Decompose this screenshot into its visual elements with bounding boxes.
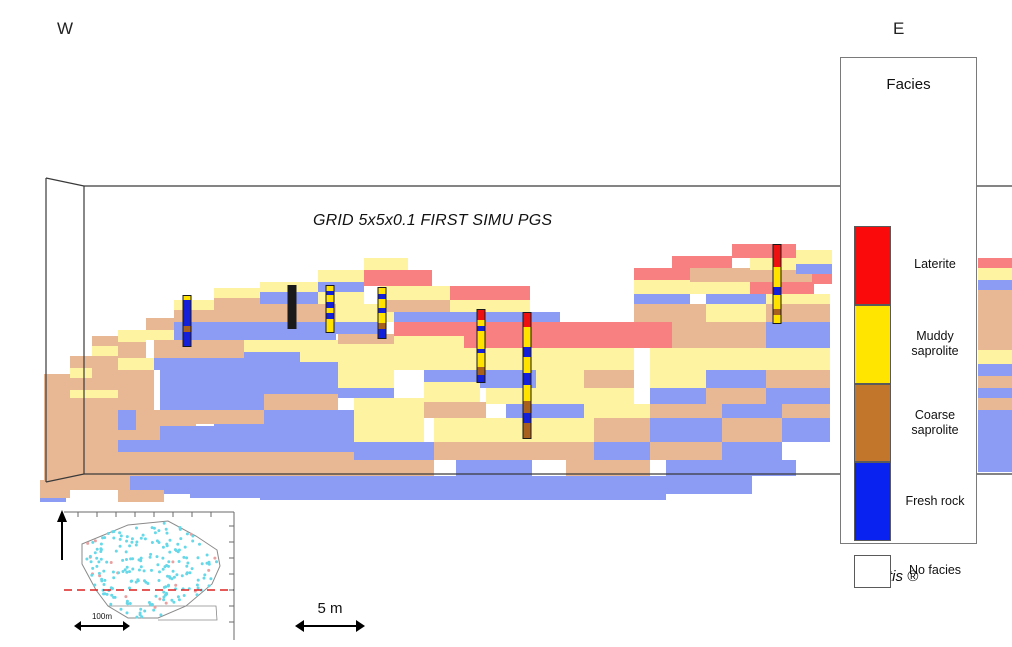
sample-point (125, 540, 128, 543)
facies-block-laterite (634, 268, 690, 280)
sample-point (111, 530, 114, 533)
facies-block-fresh (766, 322, 830, 348)
sample-point (152, 609, 155, 612)
drillhole-band-coarse (524, 423, 531, 438)
facies-block-muddy (354, 398, 424, 442)
drillhole-band-fresh (774, 287, 781, 295)
sample-point (144, 537, 147, 540)
facies-block-muddy (978, 350, 1012, 364)
facies-block-coarse (978, 376, 1012, 388)
sample-point (85, 558, 88, 561)
sample-point (96, 548, 99, 551)
sample-point (126, 600, 129, 603)
sample-point (175, 573, 178, 576)
sample-point (184, 546, 187, 549)
facies-block-coarse (44, 388, 70, 468)
sample-point (121, 559, 124, 562)
sample-point (191, 567, 194, 570)
sample-point (94, 539, 97, 542)
facies-block-coarse (260, 304, 336, 322)
drillhole-band-fresh (524, 347, 531, 357)
north-arrow-icon (57, 510, 67, 560)
facies-block-fresh (154, 358, 214, 370)
facies-block-muddy (796, 250, 832, 264)
drillhole-band-fresh (379, 294, 386, 299)
sample-point (135, 527, 138, 530)
facies-block-laterite (750, 282, 814, 294)
facies-block-coarse (672, 322, 766, 348)
sample-point (162, 596, 165, 599)
sample-point (102, 570, 105, 573)
sample-point (172, 570, 175, 573)
sample-point (102, 592, 105, 595)
sample-point (198, 543, 201, 546)
sample-point (162, 591, 165, 594)
sample-point (128, 587, 131, 590)
facies-block-coarse (506, 442, 594, 460)
sample-point (143, 610, 146, 613)
facies-block-fresh (118, 440, 160, 452)
sample-point (130, 541, 133, 544)
drillhole-band-fresh (379, 308, 386, 313)
drillhole-trace (477, 310, 485, 383)
facies-block-fresh (782, 418, 830, 442)
section-scale-label: 5 m (295, 600, 365, 617)
sample-point (98, 572, 101, 575)
facies-block-coarse (118, 430, 160, 440)
drillhole-band-coarse (478, 367, 485, 375)
facies-block-fresh (160, 370, 214, 410)
facies-block-fresh (336, 322, 380, 334)
sample-point (90, 574, 93, 577)
facies-block-muddy (706, 348, 766, 370)
sample-point (172, 601, 175, 604)
legend-label-coarse-saprolite: Coarsesaprolite (893, 408, 977, 438)
facies-block-muddy (92, 346, 118, 356)
sample-point (189, 571, 192, 574)
sample-point (178, 526, 181, 529)
sample-point (197, 556, 200, 559)
facies-block-muddy (174, 300, 214, 310)
facies-block-muddy (584, 388, 634, 404)
sample-point (126, 602, 129, 605)
drillhole-band-muddy (327, 319, 334, 332)
sample-point (174, 548, 177, 551)
sample-point (168, 551, 171, 554)
sample-point (206, 562, 209, 565)
facies-block-muddy (118, 358, 154, 370)
sample-point (191, 535, 194, 538)
sample-point (186, 532, 189, 535)
sample-point (101, 536, 104, 539)
facies-block-muddy (70, 368, 94, 378)
facies-block-laterite (812, 274, 832, 284)
drillhole-band-fresh (478, 375, 485, 382)
facies-block-coarse (160, 410, 196, 426)
drillhole-trace (773, 245, 781, 324)
sample-point (138, 569, 141, 572)
sample-point (163, 522, 166, 525)
sample-point (215, 560, 218, 563)
facies-block-muddy (380, 286, 450, 300)
facies-block-fresh (634, 294, 690, 304)
facies-block-laterite (634, 322, 672, 348)
sample-point (179, 537, 182, 540)
sample-point (110, 561, 113, 564)
facies-block-fresh (978, 280, 1012, 290)
sample-point (120, 534, 123, 537)
facies-block-coarse (92, 356, 118, 378)
sample-point (109, 603, 112, 606)
inset-scale-label: 100m (74, 612, 130, 621)
facies-block-fresh (706, 370, 766, 388)
sample-point (139, 608, 142, 611)
sample-point (103, 583, 106, 586)
section-scale-bar: 5 m (295, 600, 365, 633)
sample-point (119, 545, 122, 548)
drillhole-band-fresh (478, 326, 485, 331)
sample-point (197, 579, 200, 582)
sample-point (97, 560, 100, 563)
facies-block-fresh (650, 388, 706, 404)
legend-swatch-coarse-saprolite (854, 384, 891, 463)
sample-point (115, 550, 118, 553)
facies-block-muddy (318, 270, 364, 282)
drillhole-band-muddy (379, 299, 386, 308)
facies-block-fresh (260, 476, 360, 500)
facies-block-coarse (782, 404, 830, 418)
sample-point (139, 559, 142, 562)
facies-block-coarse (434, 442, 506, 460)
sample-point (143, 569, 146, 572)
facies-block-fresh (338, 388, 394, 398)
sample-point (151, 603, 154, 606)
facies-block-fresh (190, 476, 260, 498)
sample-point (125, 571, 128, 574)
facies-block-muddy (650, 348, 706, 370)
drillhole-band-fresh (524, 373, 531, 385)
facies-block-fresh (766, 388, 830, 404)
drillhole-band-muddy (327, 295, 334, 302)
sample-point (89, 555, 92, 558)
sample-point (209, 577, 212, 580)
facies-block-fresh (230, 322, 282, 340)
facies-block-fresh (118, 410, 136, 430)
sample-point (203, 573, 206, 576)
sample-point (139, 613, 142, 616)
sample-point (112, 571, 115, 574)
legend-swatch-no-facies (854, 555, 891, 588)
facies-block-coarse (354, 460, 434, 476)
drillhole-band-muddy (379, 288, 386, 294)
sample-point (95, 557, 98, 560)
facies-block-coarse (214, 452, 270, 476)
drillhole-trace (183, 296, 191, 347)
facies-block-muddy (480, 348, 634, 370)
drillhole-band-coarse (524, 401, 531, 413)
sample-point (119, 538, 122, 541)
legend-label-laterite: Laterite (893, 257, 977, 272)
facies-block-fresh (264, 410, 354, 452)
sample-point (135, 616, 138, 619)
sample-point (126, 535, 129, 538)
facies-block-muddy (214, 288, 260, 298)
facies-block-coarse (136, 410, 160, 430)
facies-block-coarse (650, 404, 722, 418)
facies-block-muddy (584, 404, 650, 418)
facies-block-fresh (354, 442, 434, 460)
drillhole-band-fresh (478, 349, 485, 353)
facies-block-coarse (44, 468, 70, 480)
drillhole-band-fresh (327, 302, 334, 308)
sample-point (165, 543, 168, 546)
sample-point (112, 537, 115, 540)
facies-block-muddy (650, 370, 706, 388)
facies-block-muddy (634, 280, 690, 294)
legend-label-muddy-saprolite: Muddysaprolite (893, 329, 977, 359)
legend-color-ramp (854, 226, 891, 541)
sample-point (185, 565, 188, 568)
facies-block-fresh (424, 370, 480, 382)
legend-swatch-muddy-saprolite (854, 305, 891, 384)
facies-block-fresh (456, 476, 566, 500)
drillhole-band-fresh (379, 329, 386, 338)
facies-block-muddy (364, 258, 408, 270)
sample-point (166, 532, 169, 535)
sample-point (213, 557, 216, 560)
sample-point (140, 537, 143, 540)
facies-block-fresh (394, 312, 464, 322)
sample-point (169, 577, 172, 580)
sample-point (103, 579, 106, 582)
sample-point (150, 569, 153, 572)
sample-point (126, 566, 129, 569)
sample-point (206, 554, 209, 557)
sample-point (124, 595, 127, 598)
facies-block-muddy (338, 344, 394, 388)
legend-swatch-laterite (854, 226, 891, 305)
sample-point (151, 526, 154, 529)
facies-block-coarse (118, 452, 160, 476)
sample-point (158, 570, 161, 573)
drillhole-band-muddy (774, 267, 781, 287)
double-arrow-icon (74, 621, 130, 631)
facies-block-coarse (40, 480, 70, 498)
drillhole-trace (523, 313, 531, 439)
sample-point (207, 569, 210, 572)
sample-point (191, 540, 194, 543)
drillhole-trace (288, 286, 296, 329)
sample-point (182, 556, 185, 559)
sample-point (201, 562, 204, 565)
sample-point (120, 608, 123, 611)
sample-point (100, 558, 103, 561)
sample-point (174, 584, 177, 587)
facies-block-muddy (536, 370, 584, 388)
sample-point (203, 577, 206, 580)
sample-points (85, 522, 218, 619)
drillhole-band-coarse (379, 323, 386, 329)
sample-point (177, 595, 180, 598)
sample-point (129, 602, 132, 605)
facies-block-fresh (160, 426, 214, 452)
sample-point (185, 556, 188, 559)
legend-label-no-facies: No facies (893, 563, 977, 578)
sample-point (100, 579, 103, 582)
drillhole-band-muddy (524, 357, 531, 373)
facies-block-laterite (732, 244, 796, 258)
facies-block-fresh (666, 476, 752, 494)
facies-block-coarse (70, 398, 118, 468)
facies-block-muddy (706, 304, 766, 322)
sample-point (140, 557, 143, 560)
facies-block-muddy (118, 330, 146, 342)
sample-point (151, 541, 154, 544)
sample-point (181, 574, 184, 577)
sample-point (165, 528, 168, 531)
sample-point (171, 560, 174, 563)
facies-block-muddy (506, 418, 594, 442)
sample-point (142, 534, 145, 537)
facies-block-muddy (244, 340, 300, 352)
facies-block-coarse (766, 370, 830, 388)
facies-block-muddy (70, 390, 118, 398)
sample-point (122, 570, 125, 573)
drillhole-band-muddy (478, 353, 485, 367)
facies-block-muddy (450, 300, 530, 312)
drillhole-band-fresh (184, 300, 191, 326)
sample-point (157, 529, 160, 532)
facies-block-laterite (464, 322, 634, 348)
drillhole-band-muddy (379, 313, 386, 323)
sample-point (177, 550, 180, 553)
facies-block-coarse (650, 442, 722, 460)
sample-point (156, 555, 159, 558)
sample-point (137, 579, 140, 582)
drillhole-band-coarse (184, 326, 191, 332)
sample-point (140, 565, 143, 568)
facies-block-fresh (214, 424, 264, 452)
facies-block-coarse (70, 356, 94, 368)
legend-label-fresh-rock: Fresh rock (893, 494, 977, 509)
facies-block-coarse (92, 336, 118, 346)
sample-point (93, 584, 96, 587)
sample-point (95, 565, 98, 568)
facies-block-coarse (978, 290, 1012, 350)
sample-point (125, 550, 128, 553)
facies-block-coarse (690, 268, 750, 282)
facies-block-fresh (360, 476, 456, 500)
drillhole-band-fresh (327, 313, 334, 319)
drillhole-band-muddy (478, 331, 485, 349)
facies-block-coarse (706, 388, 766, 404)
sample-point (99, 550, 102, 553)
sample-point (164, 585, 167, 588)
facies-block-coarse (566, 460, 650, 476)
facies-block-fresh (722, 404, 782, 418)
sample-point (86, 542, 89, 545)
sample-point (158, 598, 161, 601)
sample-point (128, 544, 131, 547)
sample-point (131, 557, 134, 560)
sample-point (167, 584, 170, 587)
sample-point (197, 587, 200, 590)
drillhole-band-muddy (524, 327, 531, 347)
facies-block-coarse (978, 398, 1012, 410)
drillhole-band-coarse (774, 309, 781, 315)
drillhole-trace (326, 286, 334, 333)
facies-block-fresh (318, 282, 364, 292)
sample-point (155, 595, 158, 598)
sample-point (159, 613, 162, 616)
facies-block-muddy (978, 268, 1012, 280)
facies-block-laterite (450, 286, 530, 300)
sample-point (185, 572, 188, 575)
facies-block-coarse (44, 374, 70, 388)
facies-block-coarse (722, 418, 782, 442)
drillhole-band-laterite (478, 310, 485, 320)
facies-block-coarse (584, 370, 634, 388)
sample-point (106, 593, 109, 596)
drillhole-band-fresh (327, 291, 334, 295)
facies-block-fresh (978, 410, 1012, 472)
sample-point (149, 556, 152, 559)
drillhole-band-muddy (184, 296, 191, 300)
sample-point (162, 546, 165, 549)
sample-point (162, 568, 165, 571)
sample-point (91, 541, 94, 544)
sample-point (178, 598, 181, 601)
facies-block-fresh (650, 418, 722, 442)
facies-block-fresh (594, 442, 650, 460)
sample-point (156, 563, 159, 566)
inset-scale-bar: 100m (74, 612, 130, 631)
facies-block-fresh (978, 388, 1012, 398)
facies-block-coarse (424, 402, 486, 418)
sample-point (167, 565, 170, 568)
drillhole-band-laterite (524, 313, 531, 327)
facies-block-fresh (742, 460, 796, 476)
facies-block-coarse (118, 342, 146, 358)
sample-point (156, 539, 159, 542)
section-title: GRID 5x5x0.1 FIRST SIMU PGS (313, 212, 552, 230)
sample-point (208, 584, 211, 587)
facies-block-fresh (456, 460, 532, 476)
facies-block-coarse (146, 318, 174, 330)
drillhole-band-muddy (774, 295, 781, 309)
facies-block-laterite (978, 258, 1012, 268)
legend-swatch-fresh-rock (854, 462, 891, 541)
facies-block-muddy (434, 418, 506, 442)
facies-block-muddy (424, 382, 480, 402)
drillhole-band-dark (289, 286, 296, 328)
sample-point (118, 531, 121, 534)
sample-point (112, 576, 115, 579)
sample-point (149, 553, 152, 556)
drillhole-trace (378, 288, 386, 339)
facies-block-muddy (766, 348, 830, 370)
facies-block-laterite (394, 322, 464, 336)
sample-point (146, 582, 149, 585)
facies-block-coarse (196, 410, 264, 424)
sample-point (162, 598, 165, 601)
facies-block-coarse (594, 418, 650, 442)
facies-block-muddy (486, 388, 584, 404)
sample-point (107, 532, 110, 535)
facies-block-fresh (706, 294, 766, 304)
facies-block-laterite (672, 256, 732, 268)
facies-block-coarse (118, 370, 154, 410)
